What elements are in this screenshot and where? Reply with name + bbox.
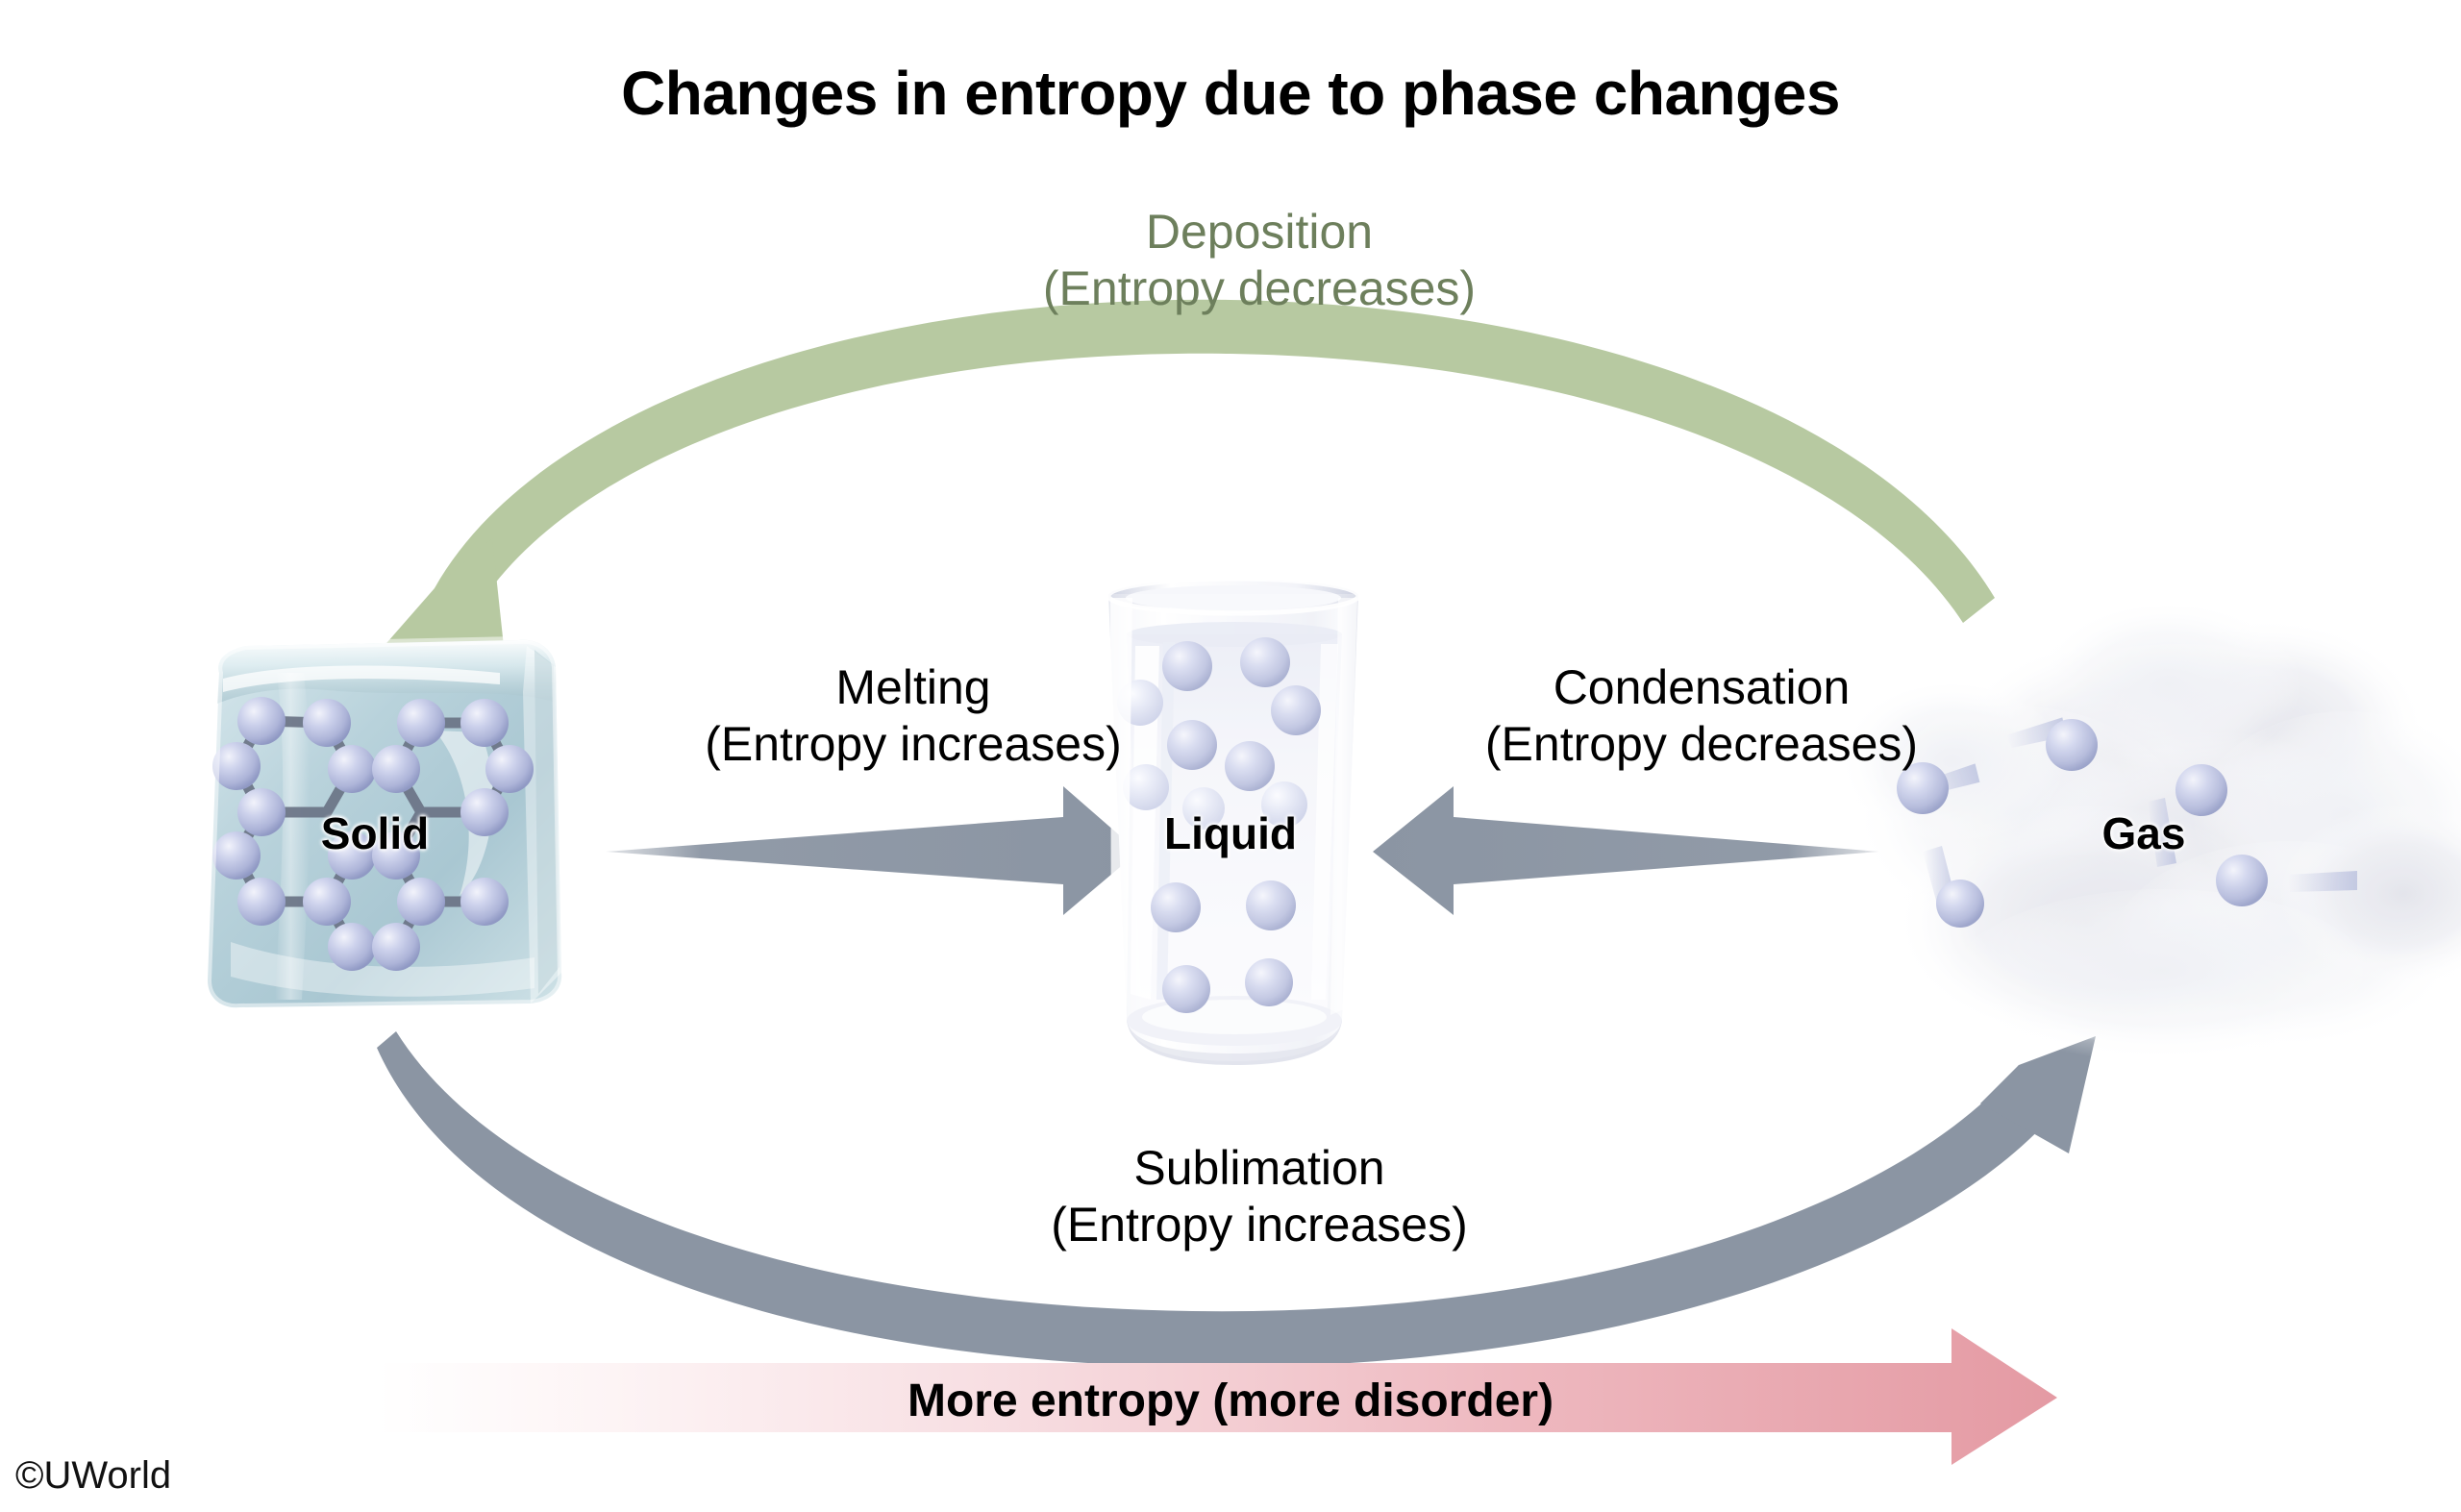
entropy-banner-label: More entropy (more disorder) — [615, 1375, 1846, 1429]
sublimation-effect: (Entropy increases) — [1051, 1198, 1468, 1252]
deposition-name: Deposition — [1146, 205, 1373, 259]
copyright-notice: ©UWorld — [15, 1453, 171, 1499]
deposition-label: Deposition(Entropy decreases) — [865, 204, 1653, 317]
condensation-effect: (Entropy decreases) — [1485, 717, 1918, 771]
melting-effect: (Entropy increases) — [705, 717, 1122, 771]
solid-state-label: Solid — [192, 807, 558, 859]
liquid-state-label: Liquid — [1048, 807, 1413, 859]
melting-label: Melting(Entropy increases) — [577, 659, 1250, 773]
gas-state-label: Gas — [2000, 807, 2288, 859]
condensation-arrow — [1373, 786, 1879, 915]
condensation-label: Condensation(Entropy decreases) — [1365, 659, 2038, 773]
diagram-canvas: Changes in entropy due to phase changes … — [0, 0, 2461, 1512]
sublimation-label: Sublimation(Entropy increases) — [865, 1140, 1653, 1253]
condensation-name: Condensation — [1554, 660, 1851, 714]
melting-name: Melting — [835, 660, 990, 714]
page-title: Changes in entropy due to phase changes — [0, 58, 2461, 131]
deposition-effect: (Entropy decreases) — [1043, 261, 1476, 315]
sublimation-name: Sublimation — [1133, 1141, 1384, 1195]
